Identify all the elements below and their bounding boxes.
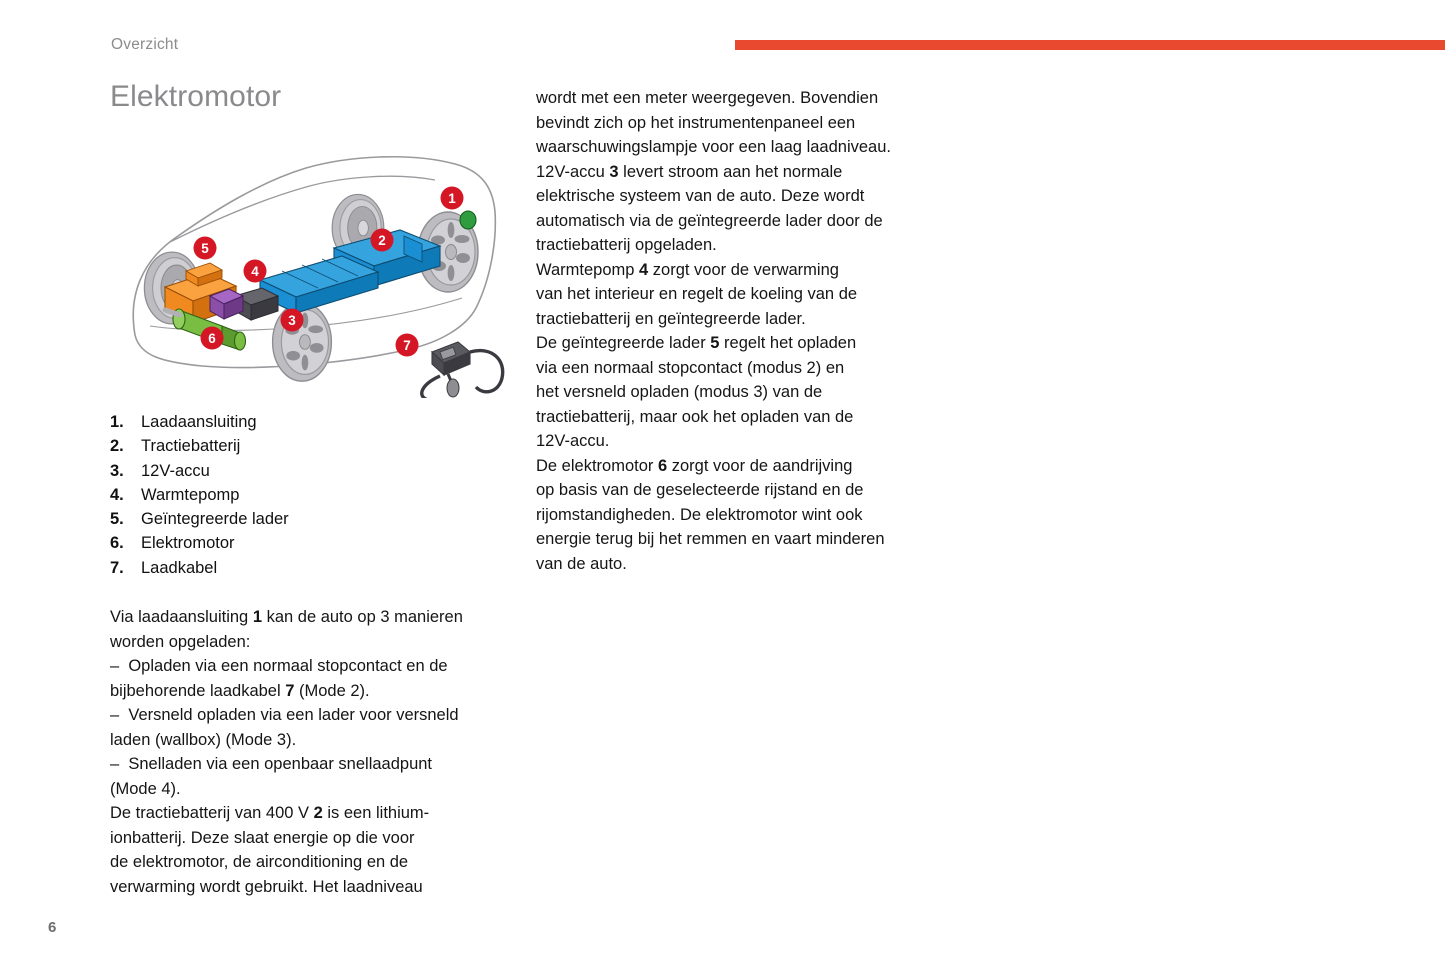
text-run: tractiebatterij opgeladen. — [536, 236, 717, 254]
text-line: De elektromotor 6 zorgt voor de aandrijv… — [536, 454, 936, 479]
svg-text:6: 6 — [208, 331, 216, 346]
text-run: tractiebatterij, maar ook het opladen va… — [536, 408, 853, 426]
text-run: via een normaal stopcontact (modus 2) en — [536, 359, 844, 377]
text-run: waarschuwingslampje voor een laag laadni… — [536, 138, 891, 156]
text-line: rijomstandigheden. De elektromotor wint … — [536, 503, 936, 528]
text-line: van het interieur en regelt de koeling v… — [536, 282, 936, 307]
text-run: (Mode 2). — [294, 682, 369, 700]
text-line: tractiebatterij en geïntegreerde lader. — [536, 307, 936, 332]
inline-reference-number: 1 — [253, 608, 262, 626]
text-line: (Mode 4). — [110, 777, 510, 802]
text-run: De elektromotor — [536, 457, 658, 475]
text-line: van de auto. — [536, 552, 936, 577]
text-run: 12V-accu — [536, 163, 609, 181]
callout-6: 6 — [201, 327, 224, 350]
text-line: 12V-accu 3 levert stroom aan het normale — [536, 160, 936, 185]
text-run: de elektromotor, de airconditioning en d… — [110, 853, 408, 871]
parts-legend-number: 3. — [110, 459, 141, 483]
text-line: De geïntegreerde lader 5 regelt het opla… — [536, 331, 936, 356]
text-line: De tractiebatterij van 400 V 2 is een li… — [110, 801, 510, 826]
text-run: zorgt voor de aandrijving — [667, 457, 852, 475]
callout-2: 2 — [371, 229, 394, 252]
text-line: verwarming wordt gebruikt. Het laadnivea… — [110, 875, 510, 900]
page-title: Elektromotor — [110, 80, 281, 114]
text-run: – Opladen via een normaal stopcontact en… — [110, 657, 448, 675]
parts-legend-item: 7.Laadkabel — [110, 556, 510, 580]
parts-legend-label: Warmtepomp — [141, 483, 510, 507]
parts-legend-item: 6.Elektromotor — [110, 531, 510, 555]
text-line: op basis van de geselecteerde rijstand e… — [536, 478, 936, 503]
text-run: tractiebatterij en geïntegreerde lader. — [536, 310, 806, 328]
text-run: bevindt zich op het instrumentenpaneel e… — [536, 114, 855, 132]
parts-legend-number: 1. — [110, 410, 141, 434]
running-head-overzicht: Overzicht — [111, 36, 178, 54]
callout-7: 7 — [396, 334, 419, 357]
svg-text:3: 3 — [288, 313, 296, 328]
parts-legend-number: 5. — [110, 507, 141, 531]
text-run: energie terug bij het remmen en vaart mi… — [536, 530, 885, 548]
text-run: is een lithium- — [323, 804, 429, 822]
text-run: op basis van de geselecteerde rijstand e… — [536, 481, 863, 499]
text-line: laden (wallbox) (Mode 3). — [110, 728, 510, 753]
text-run: Warmtepomp — [536, 261, 639, 279]
text-run: het versneld opladen (modus 3) van de — [536, 383, 822, 401]
inline-reference-number: 6 — [658, 457, 667, 475]
callout-1: 1 — [441, 187, 464, 210]
text-line: bijbehorende laadkabel 7 (Mode 2). — [110, 679, 510, 704]
parts-legend-label: Geïntegreerde lader — [141, 507, 510, 531]
inline-reference-number: 3 — [609, 163, 618, 181]
callout-4: 4 — [244, 260, 267, 283]
right-column: wordt met een meter weergegeven. Bovendi… — [536, 86, 936, 576]
text-run: wordt met een meter weergegeven. Bovendi… — [536, 89, 878, 107]
charging-cable-graphic — [422, 342, 503, 398]
parts-legend-number: 6. — [110, 531, 141, 555]
text-run: automatisch via de geïntegreerde lader d… — [536, 212, 883, 230]
charge-port-marker — [460, 211, 476, 229]
svg-text:2: 2 — [378, 233, 386, 248]
text-line: via een normaal stopcontact (modus 2) en — [536, 356, 936, 381]
parts-legend-label: Elektromotor — [141, 531, 510, 555]
text-run: verwarming wordt gebruikt. Het laadnivea… — [110, 878, 423, 896]
text-run: De geïntegreerde lader — [536, 334, 710, 352]
parts-legend-item: 5.Geïntegreerde lader — [110, 507, 510, 531]
text-line: waarschuwingslampje voor een laag laadni… — [536, 135, 936, 160]
text-run: – Versneld opladen via een lader voor ve… — [110, 706, 459, 724]
text-run: van het interieur en regelt de koeling v… — [536, 285, 857, 303]
text-line: worden opgeladen: — [110, 630, 510, 655]
page-number: 6 — [48, 919, 56, 936]
parts-legend-number: 2. — [110, 434, 141, 458]
text-run: zorgt voor de verwarming — [648, 261, 839, 279]
left-body-text: Via laadaansluiting 1 kan de auto op 3 m… — [110, 605, 510, 899]
parts-legend-number: 4. — [110, 483, 141, 507]
text-line: het versneld opladen (modus 3) van de — [536, 380, 936, 405]
text-line: tractiebatterij opgeladen. — [536, 233, 936, 258]
parts-legend-label: 12V-accu — [141, 459, 510, 483]
inline-reference-number: 2 — [314, 804, 323, 822]
text-run: bijbehorende laadkabel — [110, 682, 285, 700]
text-line: ionbatterij. Deze slaat energie op die v… — [110, 826, 510, 851]
parts-legend-item: 2.Tractiebatterij — [110, 434, 510, 458]
inline-reference-number: 4 — [639, 261, 648, 279]
text-run: Via laadaansluiting — [110, 608, 253, 626]
text-line: tractiebatterij, maar ook het opladen va… — [536, 405, 936, 430]
text-line: 12V-accu. — [536, 429, 936, 454]
text-run: laden (wallbox) (Mode 3). — [110, 731, 296, 749]
svg-text:7: 7 — [403, 338, 411, 353]
text-run: (Mode 4). — [110, 780, 181, 798]
text-run: rijomstandigheden. De elektromotor wint … — [536, 506, 863, 524]
text-line: wordt met een meter weergegeven. Bovendi… — [536, 86, 936, 111]
parts-legend-item: 3.12V-accu — [110, 459, 510, 483]
text-line: Via laadaansluiting 1 kan de auto op 3 m… — [110, 605, 510, 630]
text-run: worden opgeladen: — [110, 633, 250, 651]
callout-5: 5 — [194, 237, 217, 260]
text-line: Warmtepomp 4 zorgt voor de verwarming — [536, 258, 936, 283]
parts-legend-label: Laadaansluiting — [141, 410, 510, 434]
text-run: elektrische systeem van de auto. Deze wo… — [536, 187, 864, 205]
svg-text:4: 4 — [251, 264, 259, 279]
powertrain-figure: 1 2 3 4 5 6 7 — [110, 130, 510, 398]
svg-text:1: 1 — [448, 191, 456, 206]
text-line: elektrische systeem van de auto. Deze wo… — [536, 184, 936, 209]
text-line: bevindt zich op het instrumentenpaneel e… — [536, 111, 936, 136]
text-line: automatisch via de geïntegreerde lader d… — [536, 209, 936, 234]
text-run: levert stroom aan het normale — [619, 163, 843, 181]
text-run: 12V-accu. — [536, 432, 609, 450]
parts-legend-list: 1.Laadaansluiting2.Tractiebatterij3.12V-… — [110, 410, 510, 580]
parts-legend-item: 4.Warmtepomp — [110, 483, 510, 507]
left-column: 1 2 3 4 5 6 7 — [110, 130, 510, 899]
text-run: De tractiebatterij van 400 V — [110, 804, 314, 822]
text-line: – Opladen via een normaal stopcontact en… — [110, 654, 510, 679]
text-line: de elektromotor, de airconditioning en d… — [110, 850, 510, 875]
parts-legend-label: Laadkabel — [141, 556, 510, 580]
powertrain-diagram-svg: 1 2 3 4 5 6 7 — [110, 130, 510, 398]
text-line: – Versneld opladen via een lader voor ve… — [110, 703, 510, 728]
right-body-text: wordt met een meter weergegeven. Bovendi… — [536, 86, 936, 576]
callout-3: 3 — [281, 309, 304, 332]
text-line: energie terug bij het remmen en vaart mi… — [536, 527, 936, 552]
svg-text:5: 5 — [201, 241, 209, 256]
text-run: ionbatterij. Deze slaat energie op die v… — [110, 829, 415, 847]
header-rule — [735, 40, 1445, 50]
parts-legend-number: 7. — [110, 556, 141, 580]
text-run: van de auto. — [536, 555, 627, 573]
parts-legend-item: 1.Laadaansluiting — [110, 410, 510, 434]
text-run: kan de auto op 3 manieren — [262, 608, 463, 626]
text-line: – Snelladen via een openbaar snellaadpun… — [110, 752, 510, 777]
text-run: regelt het opladen — [719, 334, 856, 352]
parts-legend-label: Tractiebatterij — [141, 434, 510, 458]
text-run: – Snelladen via een openbaar snellaadpun… — [110, 755, 432, 773]
